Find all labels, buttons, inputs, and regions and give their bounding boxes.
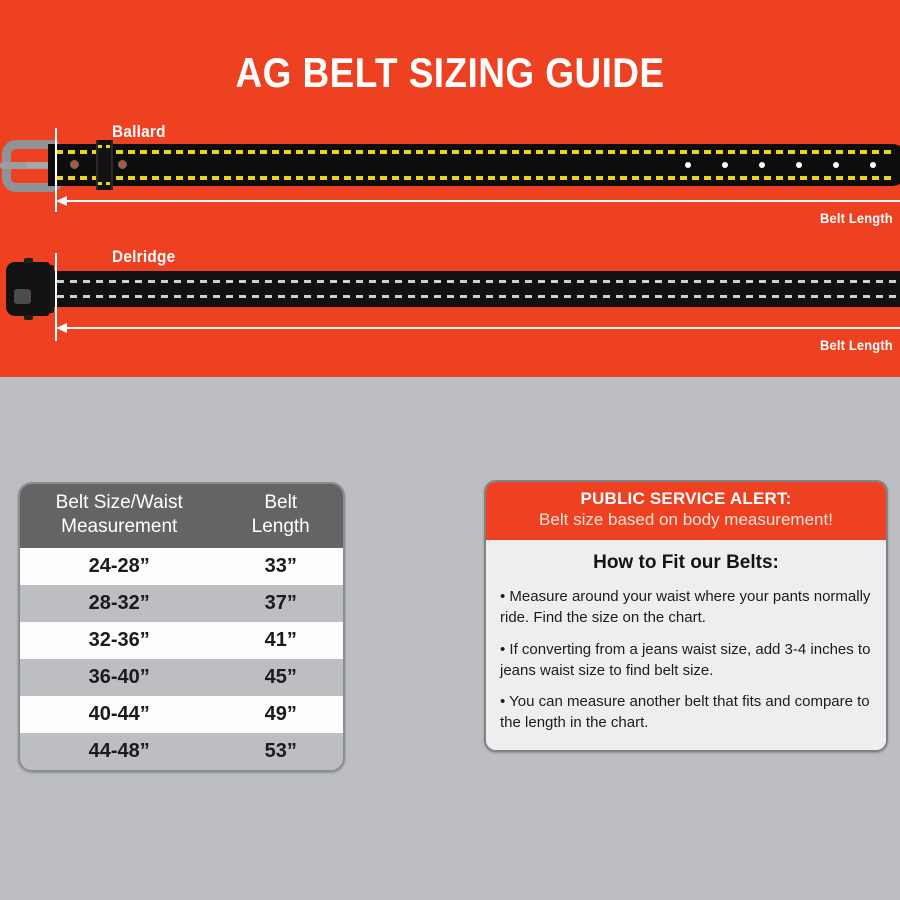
cell-length: 37” xyxy=(218,585,343,622)
alert-bullet-item: • If converting from a jeans waist size,… xyxy=(500,640,872,681)
buckle-nub xyxy=(24,315,33,320)
measurement-arrow-line-delridge xyxy=(64,327,900,329)
cell-waist: 36-40” xyxy=(20,659,218,696)
column-header-length-line2: Length xyxy=(252,516,310,537)
cell-length: 53” xyxy=(218,733,343,770)
belt-label-delridge: Delridge xyxy=(112,247,175,267)
stitching-bottom-icon xyxy=(44,295,900,298)
alert-subtitle-banner: Belt size based on body measurement! xyxy=(494,509,878,531)
strap-delridge xyxy=(38,271,900,307)
cell-length: 33” xyxy=(218,548,343,585)
public-service-alert-panel: PUBLIC SERVICE ALERT: Belt size based on… xyxy=(484,480,888,752)
table-row: 40-44” 49” xyxy=(20,696,343,733)
belt-hole xyxy=(722,162,728,168)
belt-hole xyxy=(833,162,839,168)
column-header-waist-line2: Measurement xyxy=(61,516,177,537)
cell-waist: 40-44” xyxy=(20,696,218,733)
belt-illustration-ballard: Ballard xyxy=(0,120,900,230)
measurement-label-ballard: Belt Length xyxy=(820,210,893,226)
strap-ballard xyxy=(48,144,900,186)
alert-bullet-item: • You can measure another belt that fits… xyxy=(500,692,872,733)
column-header-length-line1: Belt xyxy=(264,492,297,513)
column-header-waist: Belt Size/Waist Measurement xyxy=(20,484,218,548)
column-header-waist-line1: Belt Size/Waist xyxy=(56,492,183,513)
table-row: 24-28” 33” xyxy=(20,548,343,585)
column-header-length: Belt Length xyxy=(218,484,343,548)
belt-hole xyxy=(870,162,876,168)
table-row: 28-32” 37” xyxy=(20,585,343,622)
table-header-row: Belt Size/Waist Measurement Belt Length xyxy=(20,484,343,548)
belt-illustration-delridge: Delridge Belt Length xyxy=(0,245,900,355)
cell-waist: 28-32” xyxy=(20,585,218,622)
belt-label-ballard: Ballard xyxy=(112,122,166,142)
alert-body: How to Fit our Belts: • Measure around y… xyxy=(486,540,886,749)
belt-hole xyxy=(796,162,802,168)
brand-logo-icon xyxy=(14,289,31,304)
table-row: 32-36” 41” xyxy=(20,622,343,659)
alert-bullet-item: • Measure around your waist where your p… xyxy=(500,587,872,628)
cell-length: 49” xyxy=(218,696,343,733)
page-title: AG BELT SIZING GUIDE xyxy=(54,52,846,94)
how-to-fit-heading: How to Fit our Belts: xyxy=(500,552,872,574)
stitching-bottom-icon xyxy=(56,176,892,180)
belt-keeper-loop xyxy=(96,140,113,190)
cell-waist: 24-28” xyxy=(20,548,218,585)
stitching-top-icon xyxy=(56,150,892,154)
cell-length: 41” xyxy=(218,622,343,659)
measurement-arrow-line-ballard xyxy=(64,200,900,202)
measurement-label-delridge: Belt Length xyxy=(820,337,893,353)
table-row: 36-40” 45” xyxy=(20,659,343,696)
arrow-head-icon xyxy=(56,323,67,333)
belt-hole xyxy=(70,160,79,169)
cell-length: 45” xyxy=(218,659,343,696)
size-chart-table: Belt Size/Waist Measurement Belt Length … xyxy=(18,482,345,772)
alert-header: PUBLIC SERVICE ALERT: Belt size based on… xyxy=(486,482,886,540)
lower-section: Belt Size/Waist Measurement Belt Length … xyxy=(0,377,900,900)
buckle-delridge xyxy=(6,262,50,316)
cell-waist: 32-36” xyxy=(20,622,218,659)
arrow-head-icon xyxy=(56,196,67,206)
table-row: 44-48” 53” xyxy=(20,733,343,770)
belt-hole xyxy=(118,160,127,169)
alert-title: PUBLIC SERVICE ALERT: xyxy=(494,489,878,509)
hero-section: AG BELT SIZING GUIDE Ballard xyxy=(0,0,900,377)
cell-waist: 44-48” xyxy=(20,733,218,770)
belt-hole xyxy=(685,162,691,168)
buckle-nub xyxy=(24,258,33,263)
stitching-top-icon xyxy=(44,280,900,283)
belt-sizing-guide-page: AG BELT SIZING GUIDE Ballard xyxy=(0,0,900,900)
belt-hole xyxy=(759,162,765,168)
